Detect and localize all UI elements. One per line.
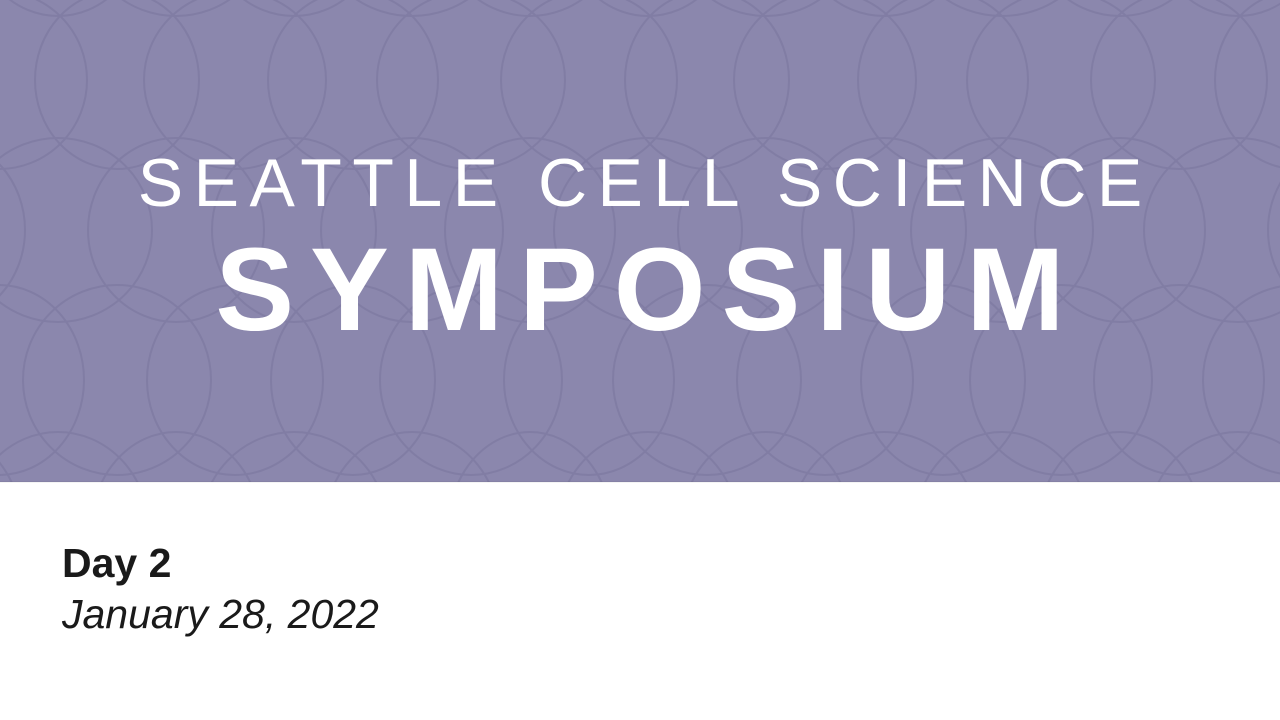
- event-name-line-1: SEATTLE CELL SCIENCE: [127, 149, 1152, 217]
- presentation-slide: SEATTLE CELL SCIENCE SYMPOSIUM Day 2 Jan…: [0, 0, 1280, 720]
- event-name-line-2: SYMPOSIUM: [199, 231, 1080, 349]
- banner-divider: [0, 481, 1280, 483]
- title-block: SEATTLE CELL SCIENCE SYMPOSIUM: [0, 0, 1280, 482]
- day-label: Day 2: [62, 540, 962, 587]
- date-label: January 28, 2022: [62, 587, 962, 641]
- session-caption: Day 2 January 28, 2022: [62, 540, 962, 641]
- title-banner: SEATTLE CELL SCIENCE SYMPOSIUM: [0, 0, 1280, 482]
